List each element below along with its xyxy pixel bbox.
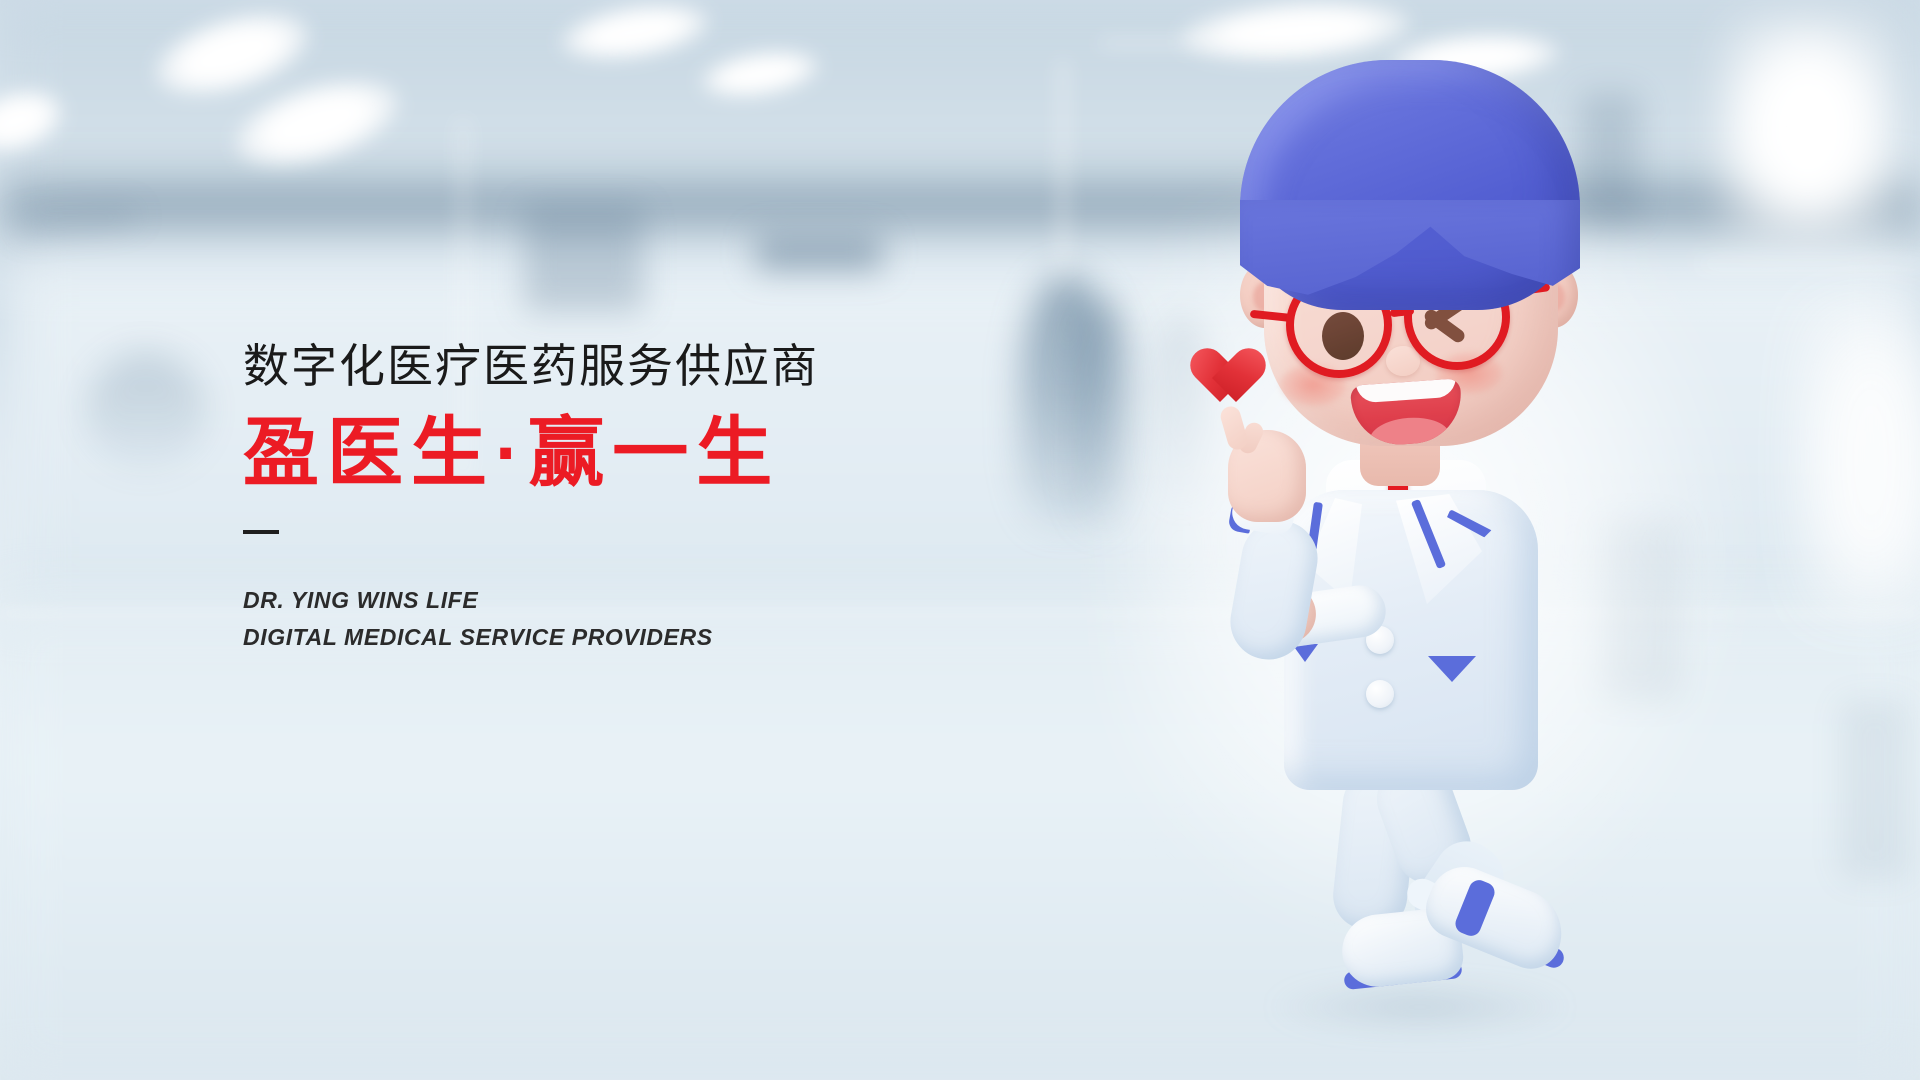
background-panel (756, 236, 882, 270)
english-subtitle-block: DR. YING WINS LIFE DIGITAL MEDICAL SERVI… (243, 582, 1003, 657)
window-light-icon (1718, 14, 1898, 244)
heart-icon (1206, 350, 1268, 406)
slogan-text: 盈医生·赢一生 (243, 411, 1003, 496)
background-person-silhouette (86, 352, 206, 472)
background-frame-line (1100, 40, 1320, 46)
english-subtitle-line-1: DR. YING WINS LIFE (243, 582, 1003, 619)
coat-button (1366, 680, 1394, 708)
hero-copy-block: 数字化医疗医药服务供应商 盈医生·赢一生 DR. YING WINS LIFE … (243, 340, 1003, 657)
divider-rule (243, 530, 279, 534)
mascot-nose (1386, 346, 1420, 376)
doctor-mascot (1210, 50, 1650, 1060)
hero-banner: 数字化医疗医药服务供应商 盈医生·赢一生 DR. YING WINS LIFE … (0, 0, 1920, 1080)
page-title: 数字化医疗医药服务供应商 (243, 340, 1003, 393)
background-panel (524, 206, 644, 312)
english-subtitle-line-2: DIGITAL MEDICAL SERVICE PROVIDERS (243, 619, 1003, 656)
window-light-icon (1796, 300, 1920, 620)
background-panel (1840, 700, 1910, 880)
character-ground-shadow (1270, 980, 1570, 1034)
